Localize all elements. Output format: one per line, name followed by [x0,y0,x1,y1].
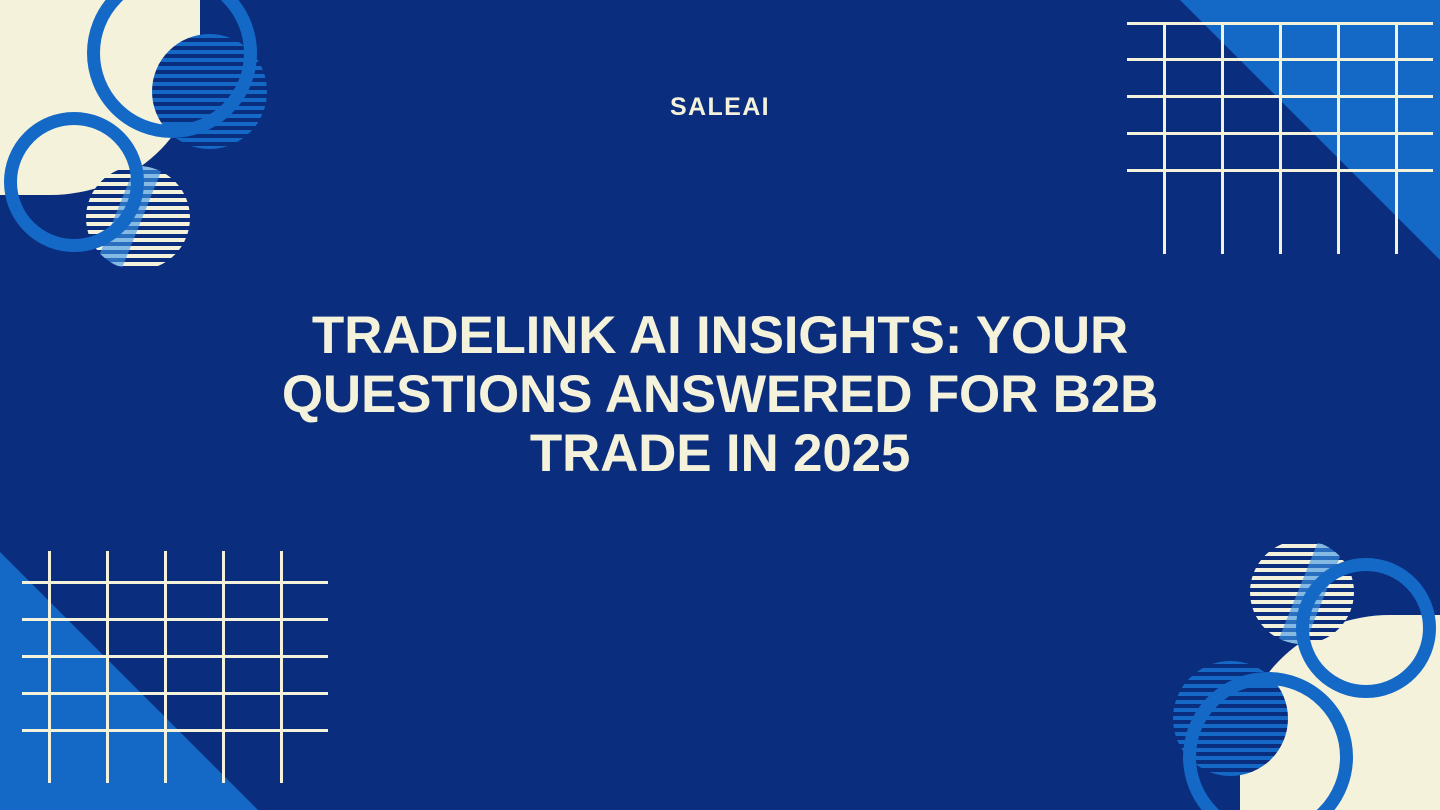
striped-blue-circle [1173,661,1288,776]
grid-line-vertical [280,551,283,783]
grid-line-horizontal [1127,132,1433,135]
presentation-slide: SALEAI TradeLink AI Insights: Your Quest… [0,0,1440,810]
grid-line-vertical [1279,22,1282,254]
grid-line-horizontal [1127,169,1433,172]
grid-line-horizontal [22,618,328,621]
bottom-left-grid-decoration [48,551,283,783]
ring-upper [1183,672,1353,810]
bottom-left-diagonal-triangle [0,552,258,810]
grid-line-vertical [164,551,167,783]
grid-line-horizontal [1127,58,1433,61]
grid-line-vertical [222,551,225,783]
top-right-grid-decoration [1163,22,1398,254]
grid-line-vertical [1221,22,1224,254]
top-left-decoration-cluster [0,0,300,285]
grid-line-vertical [1337,22,1340,254]
grid-line-horizontal [22,655,328,658]
bottom-right-decoration-cluster [1140,525,1440,810]
grid-line-vertical [48,551,51,783]
striped-blue-circle [152,34,267,149]
slide-title: TradeLink AI Insights: Your Questions An… [220,306,1220,483]
grid-line-horizontal [1127,22,1433,25]
cream-corner-blob [1240,615,1440,810]
grid-line-horizontal [22,581,328,584]
ring-lower [4,112,144,252]
grid-line-vertical [1163,22,1166,254]
striped-cream-circle [86,166,190,270]
brand-logo: SALEAI [0,93,1440,122]
grid-line-vertical [1395,22,1398,254]
grid-line-horizontal [22,692,328,695]
grid-line-horizontal [22,729,328,732]
striped-cream-circle [1250,540,1354,644]
top-right-diagonal-triangle [1180,0,1440,260]
ring-lower [1296,558,1436,698]
grid-line-vertical [106,551,109,783]
